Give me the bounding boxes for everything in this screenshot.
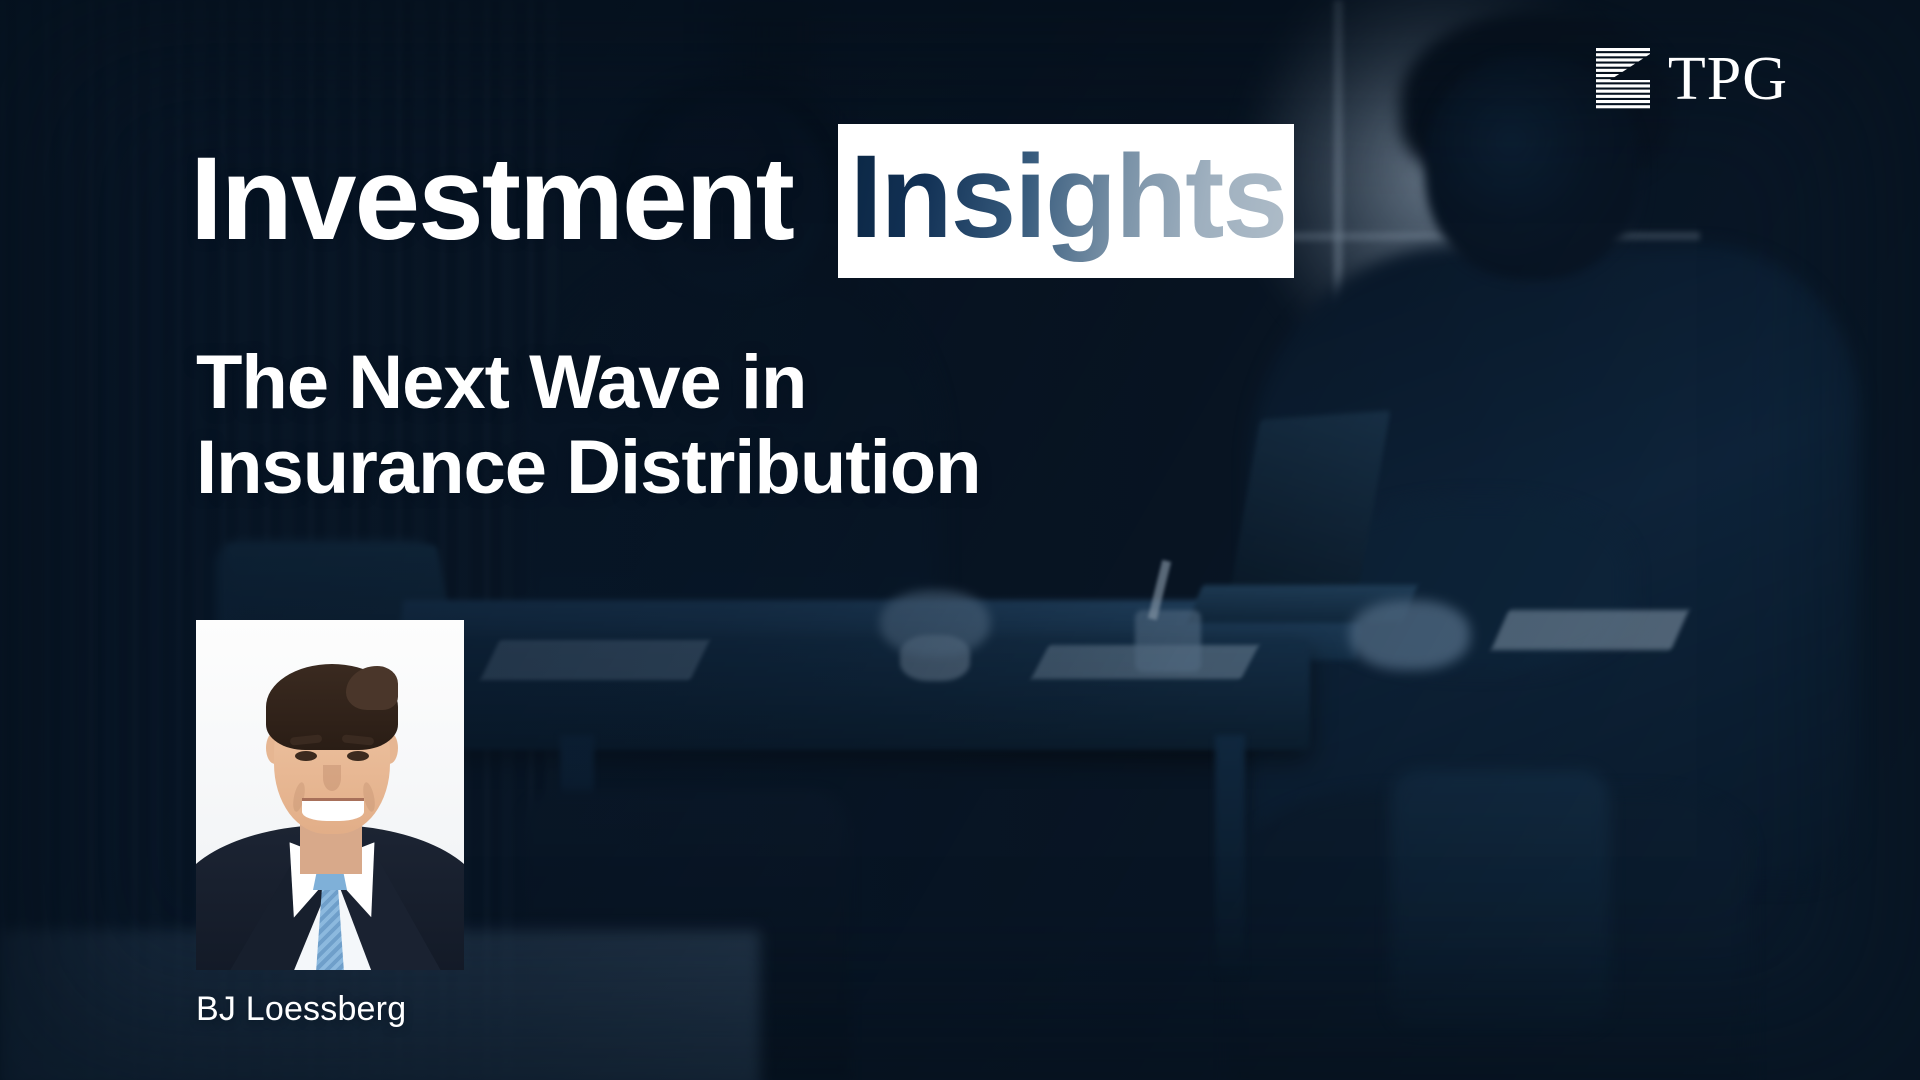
page-title: The Next Wave in Insurance Distribution xyxy=(196,340,981,510)
avatar xyxy=(196,620,464,970)
portrait-eye-right xyxy=(347,751,369,761)
tpg-striped-mark-icon xyxy=(1596,48,1652,110)
title-accent-box: Insights xyxy=(838,124,1294,278)
title-accent: Insights xyxy=(850,131,1286,263)
author-name: BJ Loessberg xyxy=(196,990,406,1029)
subtitle-line-2: Insurance Distribution xyxy=(196,425,981,510)
tpg-logo[interactable]: TPG xyxy=(1596,48,1788,110)
portrait-nose xyxy=(323,765,341,791)
portrait-eye-left xyxy=(295,751,317,761)
title-row: Investment Insights xyxy=(190,140,1294,278)
author-portrait-wrap xyxy=(196,620,464,970)
title-lead: Investment xyxy=(190,140,824,258)
portrait-smile xyxy=(302,798,364,821)
subtitle-line-1: The Next Wave in xyxy=(196,340,981,425)
investment-insights-title-card: TPG Investment Insights The Next Wave in… xyxy=(0,0,1920,1080)
overlay-content: TPG Investment Insights The Next Wave in… xyxy=(0,0,1920,1080)
tpg-logo-text: TPG xyxy=(1668,48,1788,110)
